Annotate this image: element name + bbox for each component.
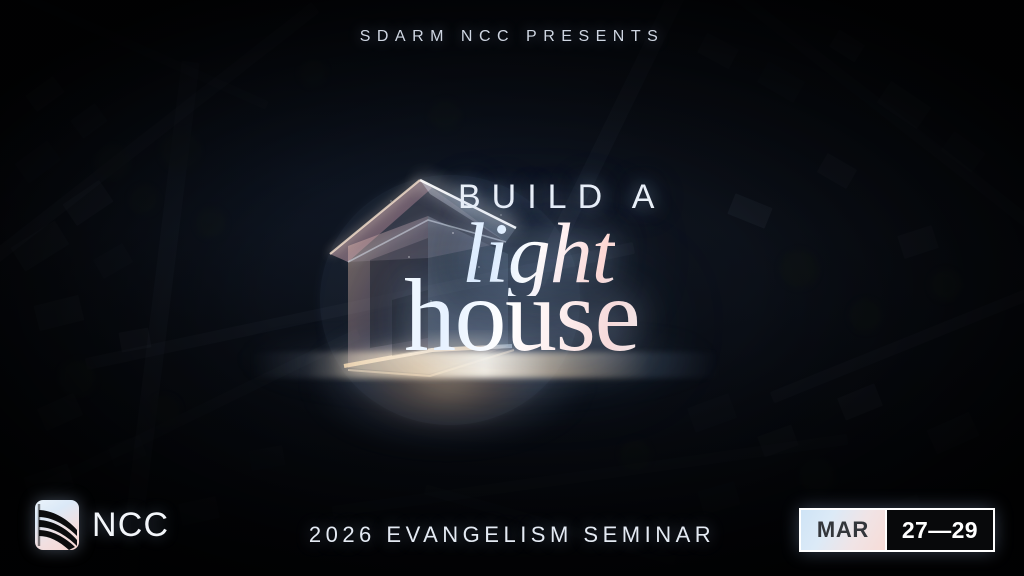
house-doorway-shadow xyxy=(392,290,428,356)
date-badge: MAR 27—29 xyxy=(799,508,995,552)
glass-house-graphic xyxy=(300,150,600,410)
ncc-wave-mark-icon xyxy=(35,500,79,550)
kicker-text: SDARM NCC PRESENTS xyxy=(0,28,1024,46)
date-badge-month: MAR xyxy=(801,510,885,550)
ncc-logo[interactable]: NCC xyxy=(35,500,169,550)
ncc-wordmark: NCC xyxy=(92,506,169,545)
date-badge-days: 27—29 xyxy=(885,510,993,550)
poster-canvas: SDARM NCC PRESENTS BUILD A light house 2… xyxy=(0,0,1024,576)
